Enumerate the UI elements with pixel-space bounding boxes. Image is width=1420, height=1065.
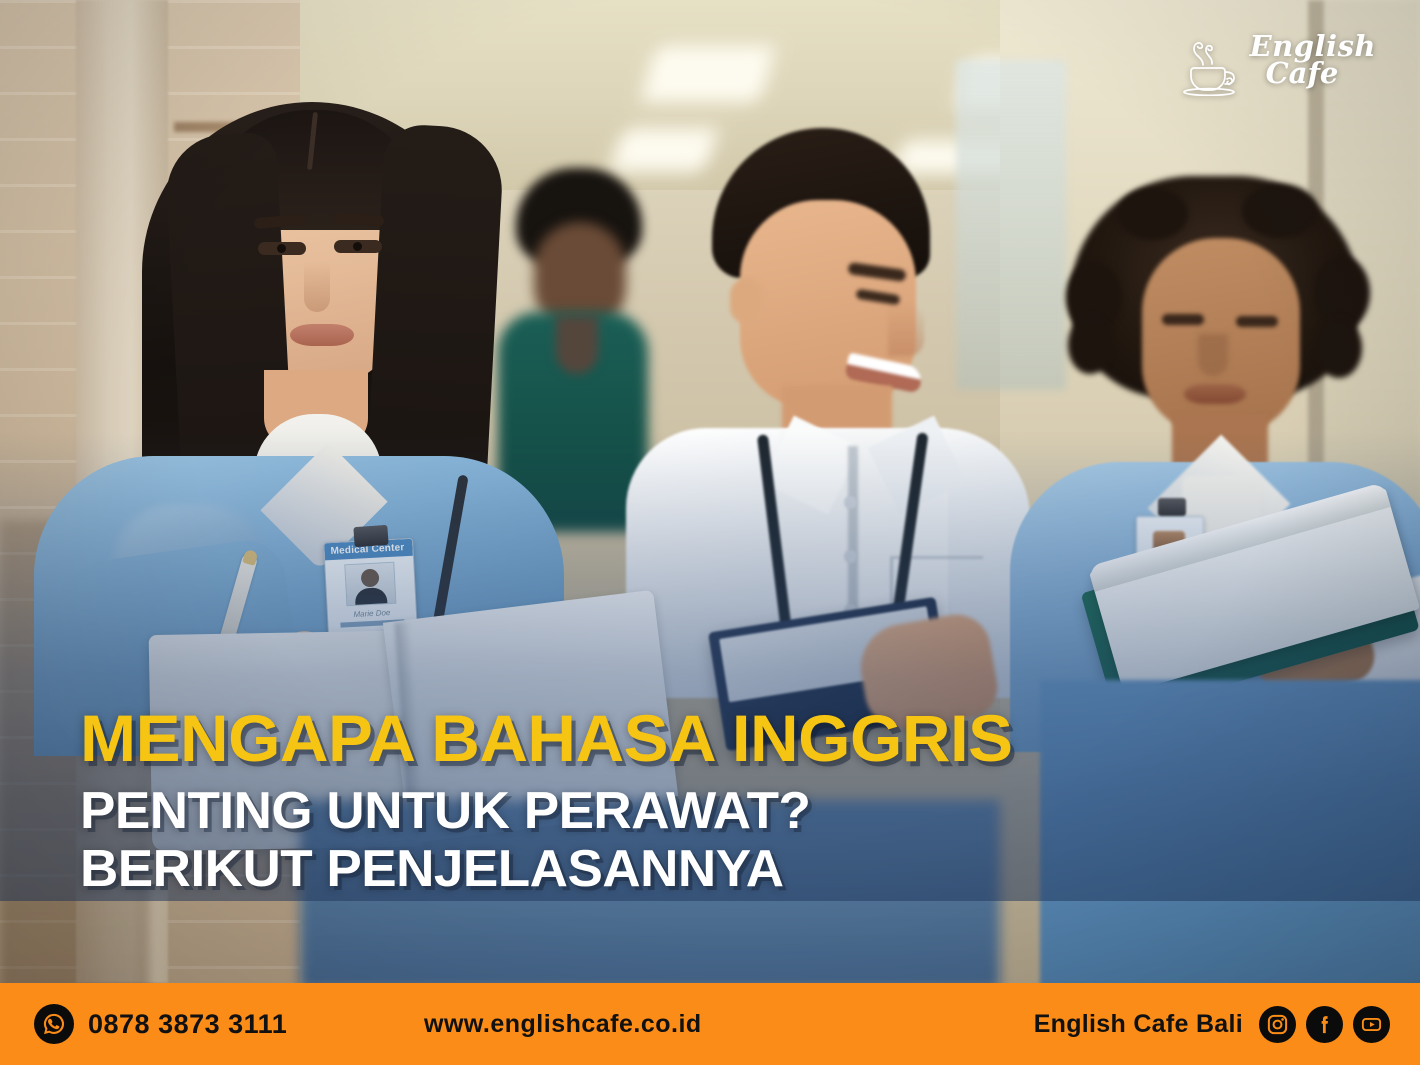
footer-brand-name: English Cafe Bali bbox=[1034, 1010, 1243, 1039]
doctor-figure bbox=[612, 128, 1032, 688]
doctor-shirt-button bbox=[844, 496, 857, 509]
left-nurse-figure: Medical Center Marie Doe bbox=[104, 74, 574, 694]
footer-contact[interactable]: 0878 3873 3111 bbox=[34, 1004, 404, 1044]
left-nurse-badge-clip bbox=[353, 525, 388, 547]
right-nurse-curl bbox=[1068, 316, 1112, 374]
right-nurse-curl bbox=[1242, 184, 1318, 238]
doctor-ear bbox=[730, 278, 764, 324]
doctor-nose bbox=[888, 304, 924, 356]
right-nurse-eye bbox=[1162, 314, 1204, 325]
headline-line-3: BERIKUT PENJELASANNYA bbox=[80, 843, 1202, 895]
left-nurse-eye bbox=[258, 242, 306, 255]
right-nurse-curl bbox=[1316, 318, 1362, 378]
website-url[interactable]: www.englishcafe.co.id bbox=[424, 1010, 702, 1038]
youtube-icon[interactable] bbox=[1353, 1006, 1390, 1043]
whatsapp-icon[interactable] bbox=[34, 1004, 74, 1044]
left-nurse-nose bbox=[304, 262, 330, 312]
footer-website[interactable]: www.englishcafe.co.id bbox=[404, 1010, 1034, 1039]
logo-line-2: Cafe bbox=[1266, 60, 1339, 87]
logo-wordmark: English Cafe bbox=[1250, 33, 1376, 86]
id-badge-photo bbox=[344, 562, 396, 607]
footer-social-block: English Cafe Bali bbox=[1034, 1006, 1390, 1043]
footer-bar: 0878 3873 3111 www.englishcafe.co.id Eng… bbox=[0, 983, 1420, 1065]
social-icons bbox=[1259, 1006, 1390, 1043]
left-nurse-eye bbox=[334, 240, 382, 253]
phone-number[interactable]: 0878 3873 3111 bbox=[88, 1009, 287, 1040]
facebook-icon[interactable] bbox=[1306, 1006, 1343, 1043]
headline-line-1: MENGAPA BAHASA INGGRIS bbox=[80, 705, 1202, 771]
poster-canvas: Medical Center Marie Doe bbox=[0, 0, 1420, 1065]
right-nurse-eye bbox=[1236, 316, 1278, 327]
headline-line-2: PENTING UNTUK PERAWAT? bbox=[80, 785, 1202, 837]
right-nurse-badge-clip bbox=[1158, 498, 1186, 516]
ceiling-light-icon bbox=[640, 46, 776, 102]
instagram-icon[interactable] bbox=[1259, 1006, 1296, 1043]
left-nurse-mouth bbox=[290, 324, 354, 346]
doctor-shirt-button bbox=[844, 550, 857, 563]
right-nurse-nose bbox=[1198, 334, 1228, 376]
right-nurse-curl bbox=[1118, 188, 1188, 240]
english-cafe-logo[interactable]: English Cafe bbox=[1180, 24, 1376, 96]
right-nurse-mouth bbox=[1184, 384, 1246, 404]
headline-block: MENGAPA BAHASA INGGRIS PENTING UNTUK PER… bbox=[80, 705, 1180, 895]
coffee-cup-icon bbox=[1180, 24, 1242, 96]
